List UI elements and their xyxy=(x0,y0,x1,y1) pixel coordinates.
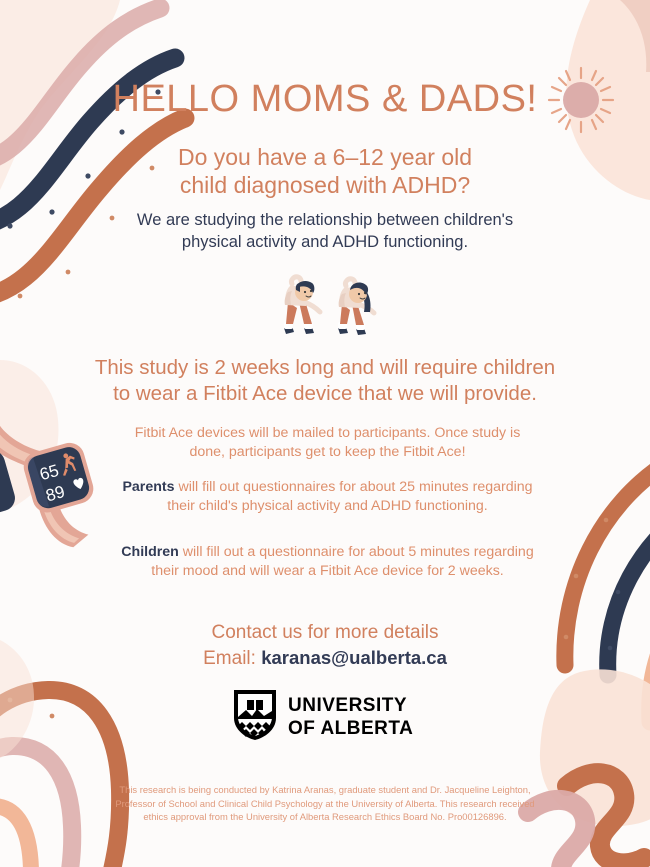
logo-line-2: OF ALBERTA xyxy=(288,718,413,739)
intro-paragraph: We are studying the relationship between… xyxy=(85,210,565,254)
poster-content: HELLO MOMS & DADS! Do you have a 6–12 ye… xyxy=(0,0,650,867)
footer-disclaimer: This research is being conducted by Katr… xyxy=(105,783,545,824)
email-label: Email: xyxy=(203,648,256,669)
paragraph-children-label: Children xyxy=(121,544,179,560)
paragraph-device-mailing: Fitbit Ace devices will be mailed to par… xyxy=(120,424,535,462)
paragraph-parents: Parents will fill out questionnaires for… xyxy=(110,478,545,516)
paragraph-parents-text: will fill out questionnaires for about 2… xyxy=(167,479,532,514)
study-summary-line-2: to wear a Fitbit Ace device that we will… xyxy=(113,382,537,405)
paragraph-children: Children will fill out a questionnaire f… xyxy=(110,543,545,581)
logo-line-1: UNIVERSITY xyxy=(288,695,407,716)
intro-line-2: physical activity and ADHD functioning. xyxy=(182,233,468,251)
ua-shield-icon xyxy=(234,690,276,740)
university-of-alberta-logo: UNIVERSITY OF ALBERTA xyxy=(230,688,425,742)
subheading: Do you have a 6–12 year old child diagno… xyxy=(75,143,575,199)
page-title: HELLO MOMS & DADS! xyxy=(0,78,650,121)
contact-prompt: Contact us for more details xyxy=(211,622,438,643)
study-summary-line-1: This study is 2 weeks long and will requ… xyxy=(95,356,555,379)
study-summary: This study is 2 weeks long and will requ… xyxy=(60,355,590,407)
email-address[interactable]: karanas@ualberta.ca xyxy=(261,647,447,668)
poster-canvas: 65 89 HELLO MOMS & DADS! Do you have a 6… xyxy=(0,0,650,867)
subheading-line-1: Do you have a 6–12 year old xyxy=(178,144,472,170)
subheading-line-2: child diagnosed with ADHD? xyxy=(180,172,470,198)
intro-line-1: We are studying the relationship between… xyxy=(137,211,513,229)
contact-block: Contact us for more details Email: karan… xyxy=(125,621,525,671)
paragraph-parents-label: Parents xyxy=(122,479,174,495)
paragraph-children-text: will fill out a questionnaire for about … xyxy=(151,544,533,579)
